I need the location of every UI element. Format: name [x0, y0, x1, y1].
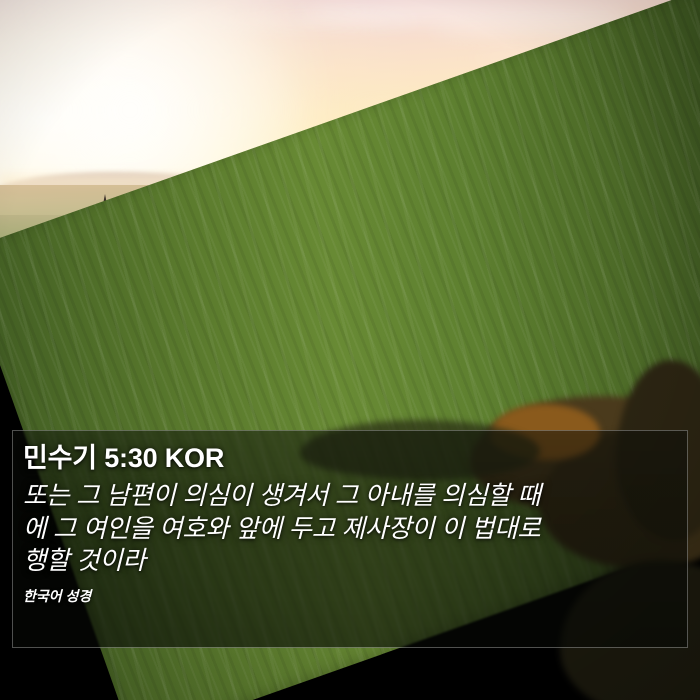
verse-line-2: 에 그 여인을 여호와 앞에 두고 제사장이 이 법대로 [23, 513, 689, 546]
verse-reference: 민수기 5:30 KOR [23, 442, 677, 474]
verse-overlay-panel: 민수기 5:30 KOR 또는 그 남편이 의심이 생겨서 그 아내를 의심할 … [12, 430, 688, 648]
verse-line-1: 또는 그 남편이 의심이 생겨서 그 아내를 의심할 때 [23, 480, 689, 513]
verse-text: 또는 그 남편이 의심이 생겨서 그 아내를 의심할 때 에 그 여인을 여호와… [23, 480, 689, 578]
bible-source-label: 한국어 성경 [23, 587, 677, 605]
verse-line-3: 행할 것이라 [23, 545, 689, 578]
bible-verse-image: 민수기 5:30 KOR 또는 그 남편이 의심이 생겨서 그 아내를 의심할 … [0, 0, 700, 700]
